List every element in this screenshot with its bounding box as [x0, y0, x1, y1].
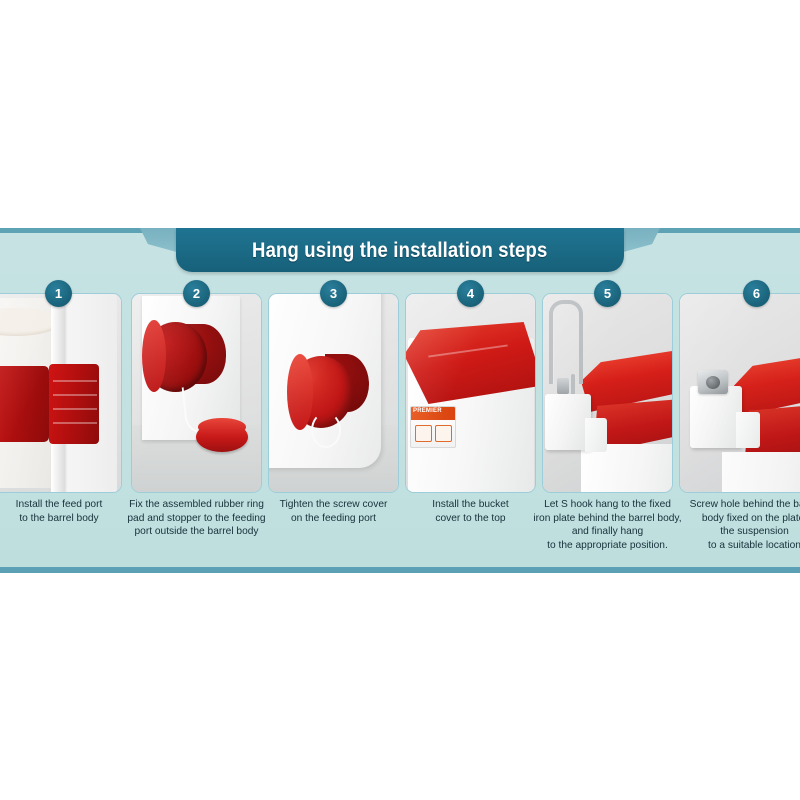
step-caption-3: Tighten the screw cover on the feeding p… — [262, 498, 405, 525]
step-caption-1: Install the feed port to the barrel body — [0, 498, 122, 525]
thread-line — [53, 394, 97, 396]
feed-port-outer — [0, 366, 49, 442]
caption-line: Install the bucket — [399, 498, 542, 512]
s-hook-icon — [549, 300, 583, 384]
scene-2 — [132, 294, 261, 492]
caption-line: port outside the barrel body — [125, 525, 268, 539]
caption-line: body fixed on the plate, — [677, 512, 800, 526]
step-caption-4: Install the bucket cover to the top — [399, 498, 542, 525]
label-icon-box — [415, 425, 432, 442]
caption-line: cover to the top — [399, 512, 542, 526]
step-caption-6: Screw hole behind the barrel body fixed … — [677, 498, 800, 552]
caption-line: to the appropriate position. — [530, 539, 685, 553]
scene-1 — [0, 294, 121, 492]
caption-line: the suspension — [677, 525, 800, 539]
thread-line — [53, 408, 97, 410]
step-badge-3: 3 — [320, 280, 347, 307]
product-label: PREMIER — [410, 406, 456, 448]
step-card-1[interactable]: 1 Install the feed port to the barrel bo… — [0, 293, 122, 493]
scene-4: PREMIER — [406, 294, 535, 492]
scene-6 — [680, 294, 800, 492]
tether-string — [311, 412, 341, 448]
ring-lip — [142, 320, 166, 392]
step-image-1 — [0, 293, 122, 493]
caption-line: to a suitable location — [677, 539, 800, 553]
caption-line: Install the feed port — [0, 498, 122, 512]
barrel-body — [722, 452, 800, 492]
label-brand-text: PREMIER — [413, 408, 442, 414]
screw-icon — [557, 378, 569, 394]
caption-line: Let S hook hang to the fixed — [530, 498, 685, 512]
steps-row: 1 Install the feed port to the barrel bo… — [0, 293, 800, 498]
caption-line: to the barrel body — [0, 512, 122, 526]
mounting-bracket — [690, 386, 742, 448]
step-card-3[interactable]: 3 Tighten the screw cover on the feeding… — [268, 293, 399, 493]
screw-head-icon — [706, 376, 720, 389]
thread-line — [53, 422, 97, 424]
caption-line: and finally hang — [530, 525, 685, 539]
step-badge-6: 6 — [743, 280, 770, 307]
caption-line: on the feeding port — [262, 512, 405, 526]
step-caption-5: Let S hook hang to the fixed iron plate … — [530, 498, 685, 552]
step-card-5[interactable]: 5 Let S hook hang to the fixed iron plat… — [542, 293, 673, 493]
step-card-4[interactable]: PREMIER 4 Install the bucket cover to th… — [405, 293, 536, 493]
step-image-3 — [268, 293, 399, 493]
bracket-lip — [585, 418, 607, 452]
scene-5 — [543, 294, 672, 492]
infographic-root: Hang using the installation steps — [0, 0, 800, 800]
step-card-6[interactable]: 6 Screw hole behind the barrel body fixe… — [679, 293, 800, 493]
feed-port-threaded — [49, 364, 99, 444]
step-badge-2: 2 — [183, 280, 210, 307]
bracket-lip — [736, 412, 760, 448]
thread-line — [53, 380, 97, 382]
screw-cover-ring — [287, 354, 313, 430]
caption-line: Tighten the screw cover — [262, 498, 405, 512]
caption-line: Screw hole behind the barrel — [677, 498, 800, 512]
step-image-6 — [679, 293, 800, 493]
stopper-cap-top — [198, 418, 246, 436]
caption-line: pad and stopper to the feeding — [125, 512, 268, 526]
label-icon-box — [435, 425, 452, 442]
caption-line: Fix the assembled rubber ring — [125, 498, 268, 512]
step-image-5 — [542, 293, 673, 493]
step-badge-1: 1 — [45, 280, 72, 307]
step-badge-4: 4 — [457, 280, 484, 307]
step-badge-5: 5 — [594, 280, 621, 307]
step-image-4: PREMIER — [405, 293, 536, 493]
step-image-2 — [131, 293, 262, 493]
step-caption-2: Fix the assembled rubber ring pad and st… — [125, 498, 268, 539]
step-card-2[interactable]: 2 Fix the assembled rubber ring pad and … — [131, 293, 262, 493]
scene-3 — [269, 294, 398, 492]
caption-line: iron plate behind the barrel body, — [530, 512, 685, 526]
